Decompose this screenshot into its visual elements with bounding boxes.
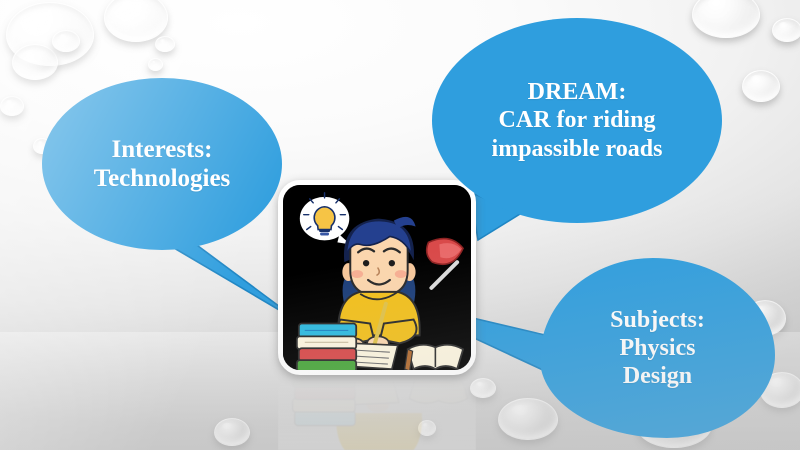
- interests-bubble-text: Interests: Technologies: [78, 135, 247, 194]
- boy-studying-photo: [278, 180, 476, 375]
- dream-bubble[interactable]: DREAM: CAR for riding impassible roads: [432, 18, 722, 223]
- slide-canvas: Interests: Technologies DREAM: CAR for r…: [0, 0, 800, 450]
- dream-bubble-text: DREAM: CAR for riding impassible roads: [476, 78, 679, 163]
- interests-bubble[interactable]: Interests: Technologies: [42, 78, 282, 250]
- book-stack-icon: [297, 324, 356, 371]
- open-book-icon: [405, 345, 463, 371]
- photo-frame: [278, 180, 476, 375]
- subjects-bubble-text: Subjects: Physics Design: [594, 306, 721, 391]
- boy-studying-illustration: [283, 185, 471, 371]
